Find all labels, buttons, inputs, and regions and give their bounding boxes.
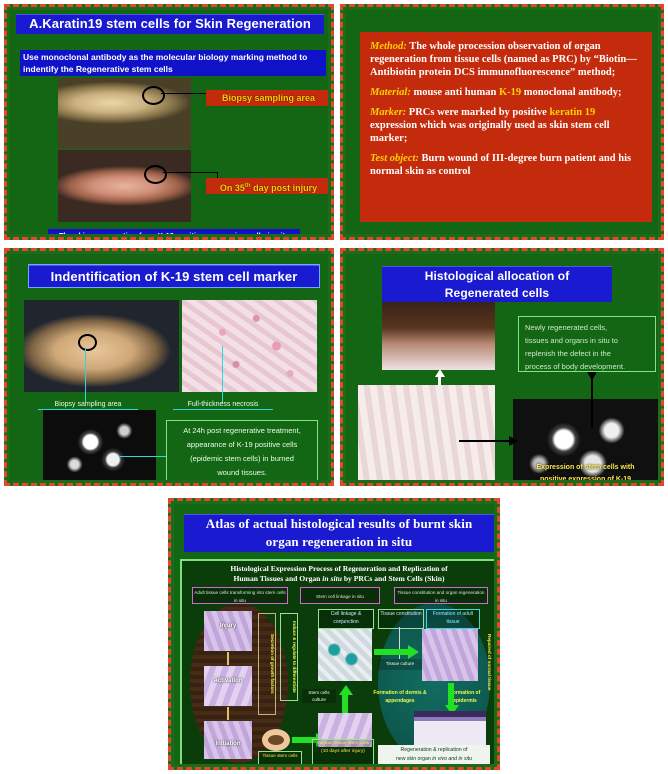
atlas-arrow-down-right <box>448 683 454 707</box>
biopsy-marker-circle-bottom <box>144 165 167 184</box>
k19-note-line-0: At 24h post regenerative treatment, <box>167 424 317 438</box>
panel-identification-title: Indentification of K-19 stem cell marker <box>28 264 320 288</box>
arrow-note-head <box>587 372 597 380</box>
arrow-right-head <box>509 436 518 446</box>
atlas-tag-1: Stem cell linkage in situ <box>300 587 380 604</box>
atlas-heading-line1: Histological Expression Process of Regen… <box>188 564 490 573</box>
atlas-photo-regenerated-skin <box>414 711 486 745</box>
atlas-heading-line2-b: by PRCs and Stem Cells (Skin) <box>342 574 445 583</box>
stemcell-expression-caption: Expression of stem cells with positive e… <box>513 460 658 480</box>
arrow-up-shaft <box>438 376 441 386</box>
atlas-heading-line2: Human Tissues and Organ in situ by PRCs … <box>188 574 490 583</box>
necrosis-histology-photo <box>182 300 317 392</box>
arm-day35-photo <box>58 150 191 222</box>
method-body-1-highlight: K-19 <box>499 87 521 98</box>
atlas-photo-adult-tissue <box>422 629 478 681</box>
biopsy-marker-circle <box>78 334 97 351</box>
panel-identification: Indentification of K-19 stem cell marker… <box>4 248 334 486</box>
regenerated-note-line-1: tissues and organs in situ to <box>525 334 651 347</box>
k19-note-line-3: wound tissues. <box>167 466 317 480</box>
atlas-heading-line2-a: Human Tissues and Organ <box>234 574 323 583</box>
panel-histological-title-line2: Regenerated cells <box>382 285 612 302</box>
method-head-3: Test object: <box>370 153 419 164</box>
biopsy-sampling-area-label: Biopsy sampling area <box>206 90 328 106</box>
atlas-box-0: Cell linkage & conjunction <box>318 609 374 629</box>
regenerated-note-line-3: process of body development. <box>525 360 651 373</box>
method-body-2-post: expression which was originally used as … <box>370 120 610 144</box>
atlas-vertical-green: Repaired of normal tissue <box>478 631 492 693</box>
method-body-1-post: monoclonal antibody; <box>521 87 621 98</box>
atlas-box-2: Formation of adult tissue <box>426 609 480 629</box>
atlas-diagram: Histological Expression Process of Regen… <box>180 559 494 764</box>
caption-italic: in situ <box>267 231 289 234</box>
day35-label: On 35th day post injury <box>206 178 328 194</box>
atlas-stage-label-0: Injury <box>204 623 252 629</box>
panel-atlas: Atlas of actual histological results of … <box>168 498 500 770</box>
atlas-result-line-0: Regeneration & replication of <box>378 746 490 755</box>
atlas-box-1: Tissue constitution <box>378 609 424 629</box>
atlas-vertical-label-0: Secretion of growth factors <box>258 613 276 715</box>
method-item-2: Marker: PRCs were marked by positive ker… <box>370 106 642 145</box>
stemcell-caption-line-1: positive expression of K-19 <box>513 474 658 480</box>
method-body-0: The whole procession observation of orga… <box>370 41 637 78</box>
panel-method-inner: Method: The whole procession observation… <box>346 10 658 234</box>
panel-keratin19-inner: A.Karatin19 stem cells for Skin Regenera… <box>10 10 328 234</box>
panel-atlas-title-line2: organ regeneration in situ <box>184 533 494 551</box>
caption-text: The skin regeneration from K-19 positive… <box>59 231 265 234</box>
panel-keratin19-caption: The skin regeneration from K-19 positive… <box>48 229 300 234</box>
panel-keratin19-title: A.Karatin19 stem cells for Skin Regenera… <box>16 14 324 34</box>
atlas-green-label-1: Formation of epidermis <box>438 689 492 705</box>
k19-note-line-1: appearance of K-19 positive cells <box>167 438 317 452</box>
atlas-photo-injury <box>204 611 252 651</box>
atlas-arrow-right-mid-head <box>408 645 419 659</box>
atlas-green-label-0: Formation of dermis & appendages <box>368 689 432 705</box>
panel-histological-allocation-inner: Histological allocation of Regenerated c… <box>346 254 658 480</box>
atlas-box-various: Various tissue stem cells (10 days after… <box>312 739 374 764</box>
panel-atlas-title-line1: Atlas of actual histological results of … <box>184 515 494 533</box>
day35-text-a: On 35 <box>220 183 245 193</box>
method-body-2-highlight: keratin 19 <box>549 107 595 118</box>
atlas-arrow-injury-activation <box>227 652 229 665</box>
atlas-arrow-up-mid <box>342 693 348 715</box>
atlas-photo-cell-linkage <box>318 629 372 681</box>
method-body-1-pre: mouse anti human <box>413 87 498 98</box>
biopsy-marker-circle-top <box>142 86 165 105</box>
atlas-stage-label-2: Initiation <box>204 741 252 747</box>
panel-histological-allocation: Histological allocation of Regenerated c… <box>340 248 664 486</box>
regenerated-note-box: Newly regenerated cells, tissues and org… <box>518 316 656 372</box>
biopsy-sampling-area-label-b: Biopsy sampling area <box>38 401 138 410</box>
biopsy-sampling-area-text: Biopsy sampling area <box>222 93 315 103</box>
panel-atlas-title: Atlas of actual histological results of … <box>184 514 494 552</box>
method-body-2-pre: PRCs were marked by positive <box>409 107 550 118</box>
method-item-1: Material: mouse anti human K-19 monoclon… <box>370 86 642 99</box>
panel-keratin19-subtitle: Use monoclonal antibody as the molecular… <box>20 50 326 76</box>
leader-line-day35 <box>163 172 218 173</box>
atlas-stemcell-ring <box>262 729 290 751</box>
atlas-photo-activation <box>204 666 252 706</box>
atlas-small-label-0: Tissue stem cells <box>258 751 302 764</box>
atlas-photo-initiation <box>204 721 252 759</box>
panel-identification-inner: Indentification of K-19 stem cell marker… <box>10 254 328 480</box>
atlas-vertical-label-1: Induce & regulate to differentiate <box>280 613 298 701</box>
dark-histology-photo <box>382 302 495 370</box>
arm-biopsy-photo <box>58 78 191 149</box>
arrow-right-shaft <box>459 440 511 442</box>
pale-histology-photo <box>358 385 495 480</box>
panel-keratin19: A.Karatin19 stem cells for Skin Regenera… <box>4 4 334 240</box>
method-head-0: Method: <box>370 41 407 52</box>
atlas-heading-line2-italic: in situ <box>322 574 342 583</box>
leader-biopsy-vertical <box>85 347 86 403</box>
k19-note-box: At 24h post regenerative treatment, appe… <box>166 420 318 480</box>
panel-atlas-inner: Atlas of actual histological results of … <box>174 504 494 764</box>
method-head-2: Marker: <box>370 107 406 118</box>
panel-histological-title-line1: Histological allocation of <box>382 268 612 285</box>
arrow-note-shaft <box>591 376 593 428</box>
regenerated-note-line-0: Newly regenerated cells, <box>525 321 651 334</box>
fluorescence-k19-photo-main <box>43 410 156 480</box>
atlas-tag-0: Adult tissue cells transforming into ste… <box>192 587 288 604</box>
arrow-up-head <box>435 369 445 377</box>
k19-note-line-2: (epidemic stem cells) in burned <box>167 452 317 466</box>
atlas-result-line-1-italic: in vivo and in situ <box>432 756 472 762</box>
atlas-arrow-activation-initiation <box>227 707 229 720</box>
atlas-result-line-1: new skin organ in vivo and in situ <box>378 755 490 764</box>
atlas-result-box: Regeneration & replication of new skin o… <box>378 745 490 764</box>
atlas-small-label-2: Tissue culture <box>378 659 422 670</box>
method-item-3: Test object: Burn wound of III-degree bu… <box>370 152 642 178</box>
atlas-small-label-1: Stem cells culture <box>302 689 336 703</box>
method-redbox: Method: The whole procession observation… <box>360 32 652 222</box>
leader-note-horizontal <box>120 456 166 457</box>
panel-method: Method: The whole procession observation… <box>340 4 664 240</box>
method-head-1: Material: <box>370 87 411 98</box>
leader-necrosis-vertical <box>222 346 223 403</box>
atlas-arrow-up-mid-head <box>339 685 353 695</box>
day35-text-b: day post injury <box>251 183 318 193</box>
necrosis-label: Full-thickness necrosis <box>173 401 273 410</box>
atlas-result-line-1-a: new skin organ <box>396 756 432 762</box>
atlas-stage-label-1: Activation <box>204 678 252 684</box>
atlas-arrow-right-mid <box>374 649 410 655</box>
regenerated-note-line-2: replenish the defect in the <box>525 347 651 360</box>
method-item-0: Method: The whole procession observation… <box>370 40 642 79</box>
hand-biopsy-photo <box>24 300 179 392</box>
panel-histological-title: Histological allocation of Regenerated c… <box>382 266 612 302</box>
stemcell-caption-line-0: Expression of stem cells with <box>513 462 658 474</box>
atlas-tag-2: Tissue constitution and organ regenerati… <box>394 587 488 604</box>
